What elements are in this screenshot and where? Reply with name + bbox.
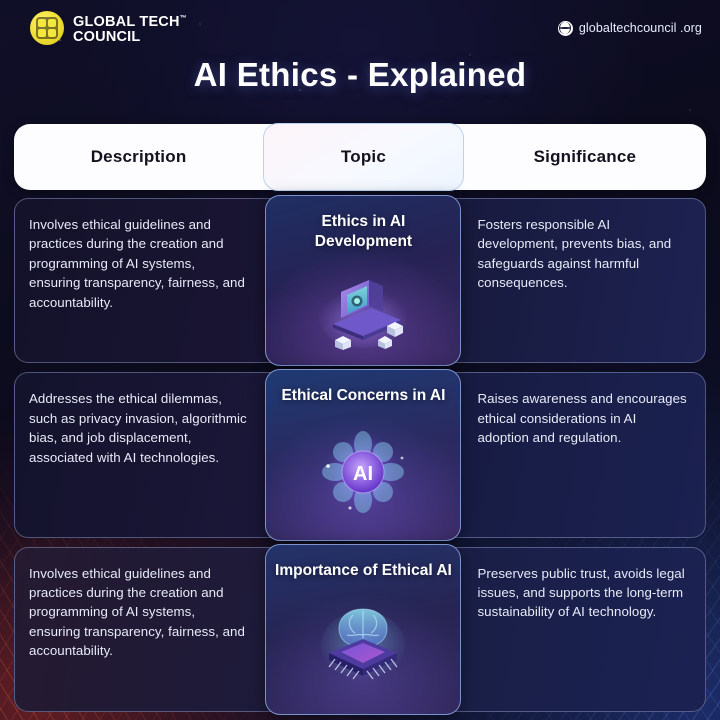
brand-logo[interactable]: GLOBAL TECH™ COUNCIL (30, 11, 187, 45)
isometric-laptop-shield-icon (266, 252, 460, 365)
svg-text:AI: AI (353, 463, 373, 485)
description-text: Involves ethical guidelines and practice… (29, 215, 249, 312)
significance-cell: Raises awareness and encourages ethical … (463, 373, 705, 536)
table-row: Involves ethical guidelines and practice… (14, 198, 706, 363)
glowing-ai-orb-icon: AI (266, 406, 460, 539)
topic-title: Ethical Concerns in AI (273, 386, 453, 406)
globe-icon (558, 21, 573, 36)
significance-cell: Preserves public trust, avoids legal iss… (463, 548, 705, 711)
top-bar: GLOBAL TECH™ COUNCIL globaltechcouncil .… (0, 0, 720, 56)
description-cell: Involves ethical guidelines and practice… (15, 548, 263, 711)
page-title: AI Ethics - Explained (0, 56, 720, 94)
topic-card[interactable]: Ethics in AI Development (265, 195, 461, 366)
table-body: Involves ethical guidelines and practice… (14, 198, 706, 712)
table-row: Involves ethical guidelines and practice… (14, 547, 706, 712)
significance-text: Preserves public trust, avoids legal iss… (477, 564, 691, 622)
significance-text: Raises awareness and encourages ethical … (477, 389, 691, 447)
topic-title: Ethics in AI Development (266, 212, 460, 252)
topic-card[interactable]: Importance of Ethical AI (265, 544, 461, 715)
description-cell: Involves ethical guidelines and practice… (15, 199, 263, 362)
column-header-topic[interactable]: Topic (263, 123, 464, 191)
topic-cell[interactable]: Ethics in AI Development (263, 199, 463, 362)
significance-cell: Fosters responsible AI development, prev… (463, 199, 705, 362)
site-url-label: globaltechcouncil .org (579, 21, 702, 35)
column-header-description[interactable]: Description (14, 124, 263, 190)
brand-line-1: GLOBAL TECH (73, 14, 180, 30)
topic-cell[interactable]: Importance of Ethical AI (263, 548, 463, 711)
topic-card[interactable]: Ethical Concerns in AI (265, 369, 461, 540)
description-cell: Addresses the ethical dilemmas, such as … (15, 373, 263, 536)
description-text: Involves ethical guidelines and practice… (29, 564, 249, 661)
topic-cell[interactable]: Ethical Concerns in AI (263, 373, 463, 536)
brain-on-chip-icon (266, 581, 460, 714)
table-header-row: Description Topic Significance (14, 124, 706, 190)
table-row: Addresses the ethical dilemmas, such as … (14, 372, 706, 537)
brand-line-2: COUNCIL (73, 29, 140, 45)
topic-title: Importance of Ethical AI (267, 561, 460, 581)
significance-text: Fosters responsible AI development, prev… (477, 215, 691, 293)
description-text: Addresses the ethical dilemmas, such as … (29, 389, 249, 467)
comparison-table: Description Topic Significance Involves … (14, 124, 706, 712)
global-tech-council-emblem-icon (30, 11, 64, 45)
brand-trademark: ™ (180, 15, 187, 22)
site-url[interactable]: globaltechcouncil .org (558, 21, 702, 36)
column-header-significance[interactable]: Significance (464, 124, 706, 190)
brand-name: GLOBAL TECH™ COUNCIL (73, 11, 187, 45)
